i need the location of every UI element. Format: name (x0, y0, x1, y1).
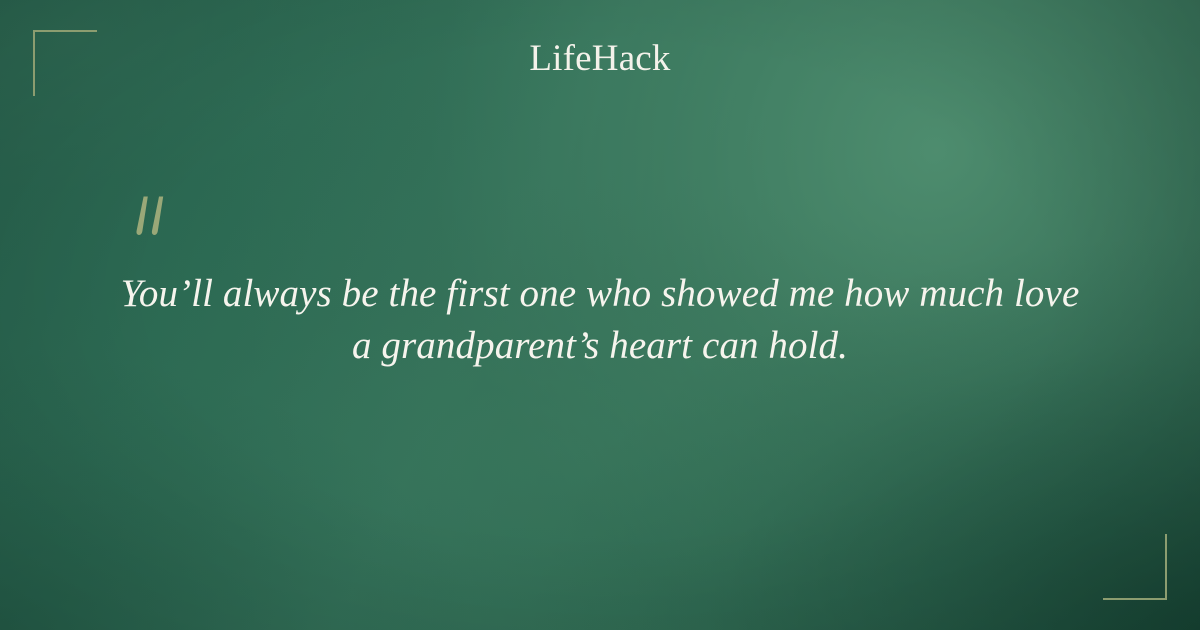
double-quote-icon (130, 196, 174, 242)
quote-card: LifeHack You’ll always be the first one … (0, 0, 1200, 630)
brand-logo-lifehack: LifeHack (0, 40, 1200, 77)
quote-line: You’ll always be the first one who showe… (60, 268, 1140, 320)
corner-bracket-bottom-right-icon (1103, 534, 1167, 600)
quote-text: You’ll always be the first one who showe… (60, 268, 1140, 372)
quote-line: a grandparent’s heart can hold. (60, 320, 1140, 372)
